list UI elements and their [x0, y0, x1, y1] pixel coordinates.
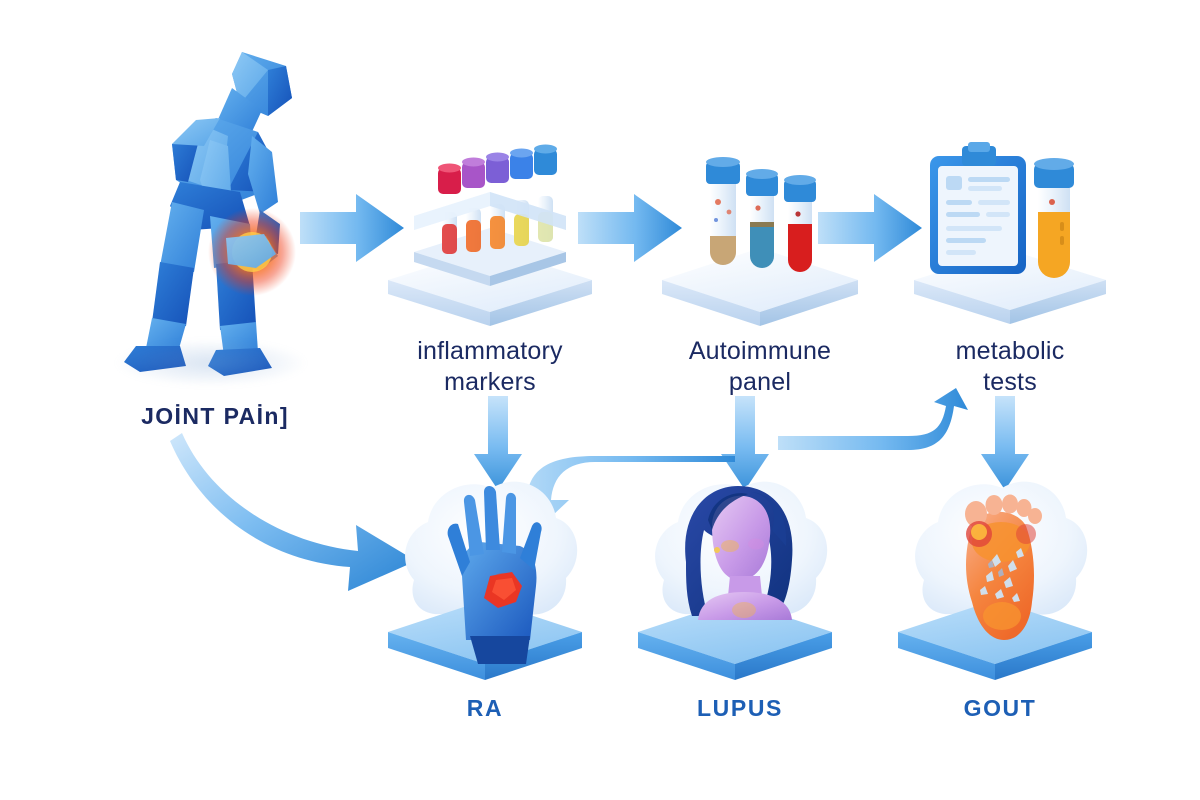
test-label-inflammatory-markers: inflammatory markers [380, 336, 600, 397]
disease-label-lupus: LUPUS [655, 694, 825, 722]
connector-joint-pain-to-inflammatory [300, 188, 410, 268]
source-icon-joint-pain[interactable] [100, 40, 330, 390]
connector-autoimmune-to-metabolic [818, 188, 928, 268]
disease-label-gout: GOUT [915, 694, 1085, 722]
disease-icon-ra[interactable] [370, 450, 600, 680]
disease-icon-lupus[interactable] [620, 450, 850, 680]
figure-ground-shadow [116, 340, 306, 386]
inflamed-foot-icon [880, 450, 1110, 680]
disease-icon-gout[interactable] [880, 450, 1110, 680]
disease-label-ra: RA [400, 694, 570, 722]
connector-inflammatory-to-autoimmune [578, 188, 688, 268]
diagram-canvas: JOİNT PAİn] [0, 0, 1200, 800]
bent-figure-holding-knee-icon [100, 40, 330, 390]
woman-butterfly-rash-icon [620, 450, 850, 680]
inflamed-hand-icon [370, 450, 600, 680]
